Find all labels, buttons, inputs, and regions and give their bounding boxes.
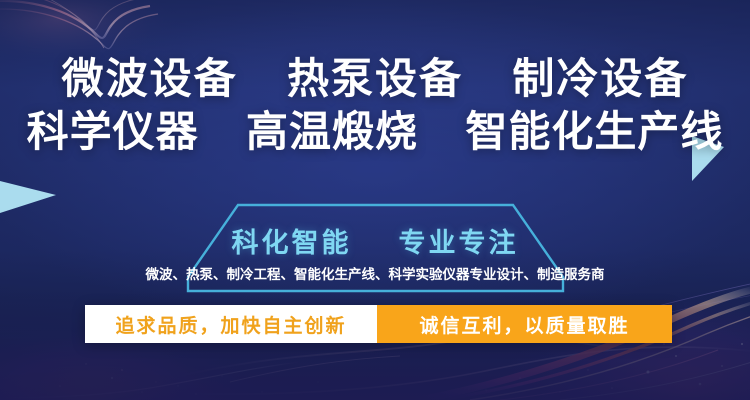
promotional-banner: 微波设备 热泵设备 制冷设备 科学仪器 高温煅烧 智能化生产线 科化智能 专业专… <box>0 0 750 400</box>
headline-item-calcination: 高温煅烧 <box>246 108 418 155</box>
headline-line-2: 科学仪器 高温煅烧 智能化生产线 <box>0 111 750 153</box>
subline-description: 微波、热泵、制冷工程、智能化生产线、科学实验仪器专业设计、制造服务商 <box>0 263 750 283</box>
quality-innovation-button[interactable]: 追求品质，加快自主创新 <box>85 305 377 343</box>
headline-item-instruments: 科学仪器 <box>27 108 199 155</box>
headline-line-1: 微波设备 热泵设备 制冷设备 <box>0 58 750 100</box>
slogan-right: 专业专注 <box>399 228 519 258</box>
headline-item-refrigeration: 制冷设备 <box>512 55 688 102</box>
integrity-quality-button[interactable]: 诚信互利，以质量取胜 <box>377 305 672 343</box>
triangle-right-pointing-icon-left <box>0 181 56 213</box>
slogan-left: 科化智能 <box>231 228 351 258</box>
headline-item-heatpump: 热泵设备 <box>287 55 463 102</box>
slogan-cyan: 科化智能 专业专注 <box>0 221 750 260</box>
headline-item-microwave: 微波设备 <box>62 55 238 102</box>
headline-block: 微波设备 热泵设备 制冷设备 科学仪器 高温煅烧 智能化生产线 <box>0 58 750 153</box>
headline-item-smartline: 智能化生产线 <box>465 108 723 155</box>
bottom-button-row: 追求品质，加快自主创新 诚信互利，以质量取胜 <box>85 305 672 343</box>
